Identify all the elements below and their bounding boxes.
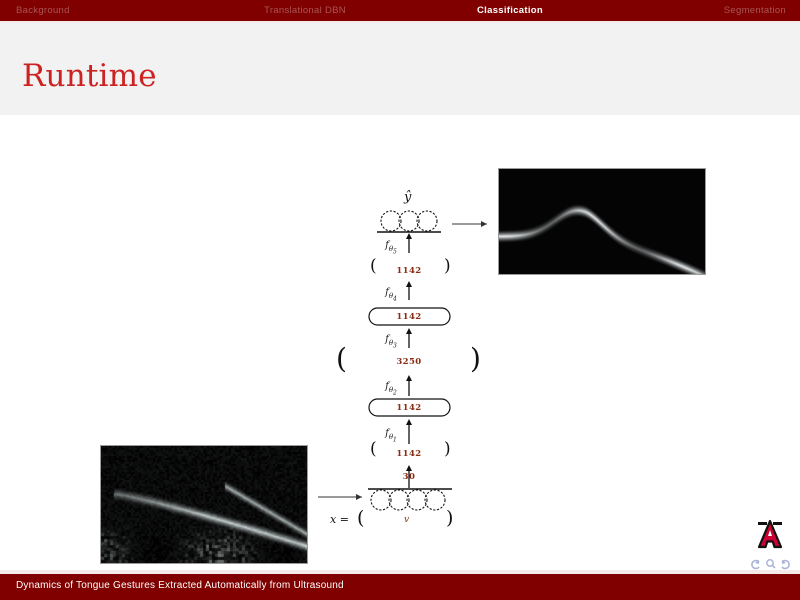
forward-icon[interactable] (779, 558, 792, 571)
paren-right-hidden-0: ) (444, 441, 451, 458)
layer-size-hidden-0: 1142 (379, 449, 439, 459)
raw-ultrasound-frame-image (100, 445, 308, 564)
search-icon[interactable] (765, 558, 776, 571)
paren-left-hidden-4: ( (370, 258, 377, 275)
output-symbol-yhat: ŷ (404, 190, 411, 205)
presentation-slide: Background Translational DBN Classificat… (0, 0, 800, 600)
paren-right-input: ) (446, 509, 453, 528)
input-symbol-x: x = (330, 513, 349, 526)
layer-size-hidden-2: 3250 (379, 357, 439, 367)
university-logo-icon (754, 519, 786, 551)
paren-left-input: ( (357, 509, 364, 528)
weight-label-3: fθ3 (376, 334, 406, 349)
paren-right-hidden-2: ) (470, 345, 481, 373)
paren-right-hidden-4: ) (444, 258, 451, 275)
footer-title: Dynamics of Tongue Gestures Extracted Au… (16, 580, 344, 591)
nav-item-background[interactable]: Background (0, 5, 200, 16)
section-nav-bar: Background Translational DBN Classificat… (0, 0, 800, 21)
layer-size-hidden-1: 1142 (379, 403, 439, 413)
nav-item-segmentation[interactable]: Segmentation (610, 5, 800, 16)
layer-size-input: 30 (379, 472, 439, 482)
weight-label-5: fθ5 (376, 240, 406, 255)
weight-label-4: fθ4 (376, 287, 406, 302)
weight-label-1: fθ1 (376, 428, 406, 443)
layer-size-hidden-3: 1142 (379, 312, 439, 322)
nav-item-classification[interactable]: Classification (410, 5, 610, 16)
traced-tongue-contour-image (498, 168, 706, 275)
paren-left-hidden-0: ( (370, 441, 377, 458)
page-title: Runtime (22, 58, 157, 94)
beamer-navigation-bar[interactable] (749, 556, 793, 572)
input-vector-label: v (404, 515, 409, 525)
layer-size-hidden-4: 1142 (379, 266, 439, 276)
weight-label-2: fθ2 (376, 381, 406, 396)
paren-left-hidden-2: ( (336, 345, 347, 373)
back-icon[interactable] (749, 558, 762, 571)
nav-item-translational-dbn[interactable]: Translational DBN (200, 5, 410, 16)
